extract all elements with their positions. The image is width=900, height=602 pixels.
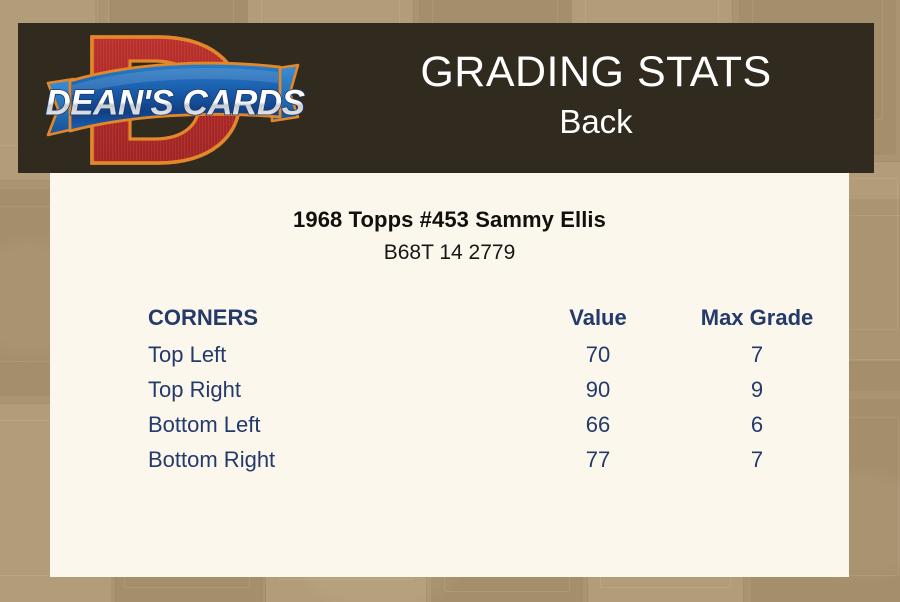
page-title: GRADING STATS <box>420 50 771 95</box>
page-header: DEAN'S CARDS GRADING STATS Back <box>18 23 874 173</box>
column-header-max-grade: Max Grade <box>678 300 836 337</box>
row-max-grade-top-right: 9 <box>678 372 836 407</box>
row-max-grade-bottom-right: 7 <box>678 442 836 477</box>
column-header-corners: CORNERS <box>148 300 518 337</box>
stats-table-body: Top Left 70 7 Top Right 90 9 Bottom Left… <box>148 337 836 477</box>
table-row: Top Right 90 9 <box>148 372 836 407</box>
grading-stats-table: CORNERS Value Max Grade Top Left 70 7 To… <box>148 300 836 477</box>
row-value-bottom-right: 77 <box>518 442 678 477</box>
logo-banner-text: DEAN'S CARDS <box>45 83 304 122</box>
row-label-bottom-right: Bottom Right <box>148 442 518 477</box>
stats-table-head: CORNERS Value Max Grade <box>148 300 836 337</box>
row-value-top-left: 70 <box>518 337 678 372</box>
table-row: Bottom Right 77 7 <box>148 442 836 477</box>
row-value-top-right: 90 <box>518 372 678 407</box>
card-title: 1968 Topps #453 Sammy Ellis <box>50 173 849 233</box>
card-subtitle: B68T 14 2779 <box>50 233 849 265</box>
table-row: Top Left 70 7 <box>148 337 836 372</box>
deans-cards-logo[interactable]: DEAN'S CARDS <box>40 25 310 173</box>
row-max-grade-bottom-left: 6 <box>678 407 836 442</box>
header-title-group: GRADING STATS Back <box>318 23 874 173</box>
row-label-bottom-left: Bottom Left <box>148 407 518 442</box>
stats-header-row: CORNERS Value Max Grade <box>148 300 836 337</box>
column-header-value: Value <box>518 300 678 337</box>
content-panel: 1968 Topps #453 Sammy Ellis B68T 14 2779… <box>50 173 849 577</box>
page-subtitle: Back <box>559 101 632 142</box>
row-max-grade-top-left: 7 <box>678 337 836 372</box>
deans-cards-logo-graphic: DEAN'S CARDS <box>40 25 310 173</box>
row-label-top-right: Top Right <box>148 372 518 407</box>
row-label-top-left: Top Left <box>148 337 518 372</box>
grading-stats-page: DEAN'S CARDS GRADING STATS Back 1968 Top… <box>0 0 900 602</box>
row-value-bottom-left: 66 <box>518 407 678 442</box>
table-row: Bottom Left 66 6 <box>148 407 836 442</box>
